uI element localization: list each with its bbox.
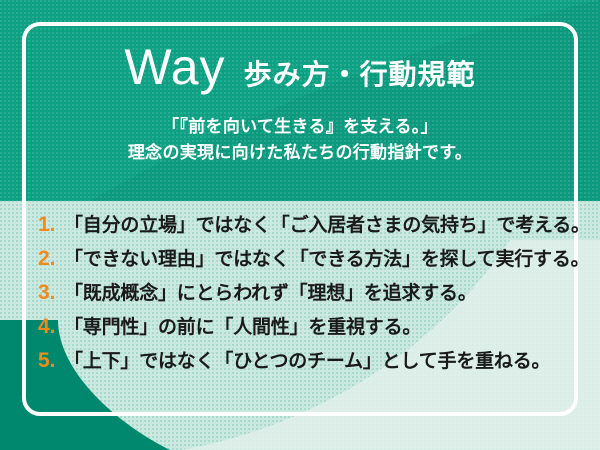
title-row: Way 歩み方・行動規範: [124, 42, 475, 92]
list-item-text: 「既成概念」にとらわれず「理想」を追求する。: [64, 284, 477, 303]
subtitle-line-2: 理念の実現に向けた私たちの行動指針です。: [128, 140, 472, 166]
list-item-number: 4.: [38, 316, 64, 337]
title-japanese: 歩み方・行動規範: [244, 61, 476, 89]
list-item-number: 3.: [38, 282, 64, 303]
list-item-number: 1.: [38, 214, 64, 235]
guideline-list: 1. 「自分の立場」ではなく「ご入居者さまの気持ち」で考える。 2. 「できない…: [38, 214, 568, 384]
list-item: 5. 「上下」ではなく「ひとつのチーム」として手を重ねる。: [38, 350, 568, 384]
subtitle-line-1: 「『前を向いて生きる』を支える。」: [128, 114, 472, 140]
list-item: 1. 「自分の立場」ではなく「ご入居者さまの気持ち」で考える。: [38, 214, 568, 248]
header-section: Way 歩み方・行動規範 「『前を向いて生きる』を支える。」 理念の実現に向けた…: [0, 0, 600, 201]
list-item-text: 「専門性」の前に「人間性」を重視する。: [64, 318, 421, 337]
list-item-number: 5.: [38, 350, 64, 371]
list-item: 3. 「既成概念」にとらわれず「理想」を追求する。: [38, 282, 568, 316]
list-item-text: 「自分の立場」ではなく「ご入居者さまの気持ち」で考える。: [64, 216, 590, 235]
title-english: Way: [124, 42, 225, 92]
list-item-number: 2.: [38, 248, 64, 269]
way-poster: Way 歩み方・行動規範 「『前を向いて生きる』を支える。」 理念の実現に向けた…: [0, 0, 600, 450]
subtitle-block: 「『前を向いて生きる』を支える。」 理念の実現に向けた私たちの行動指針です。: [128, 114, 472, 167]
list-item: 4. 「専門性」の前に「人間性」を重視する。: [38, 316, 568, 350]
list-item: 2. 「できない理由」ではなく「できる方法」を探して実行する。: [38, 248, 568, 282]
list-item-text: 「できない理由」ではなく「できる方法」を探して実行する。: [64, 250, 589, 269]
list-item-text: 「上下」ではなく「ひとつのチーム」として手を重ねる。: [64, 352, 550, 371]
